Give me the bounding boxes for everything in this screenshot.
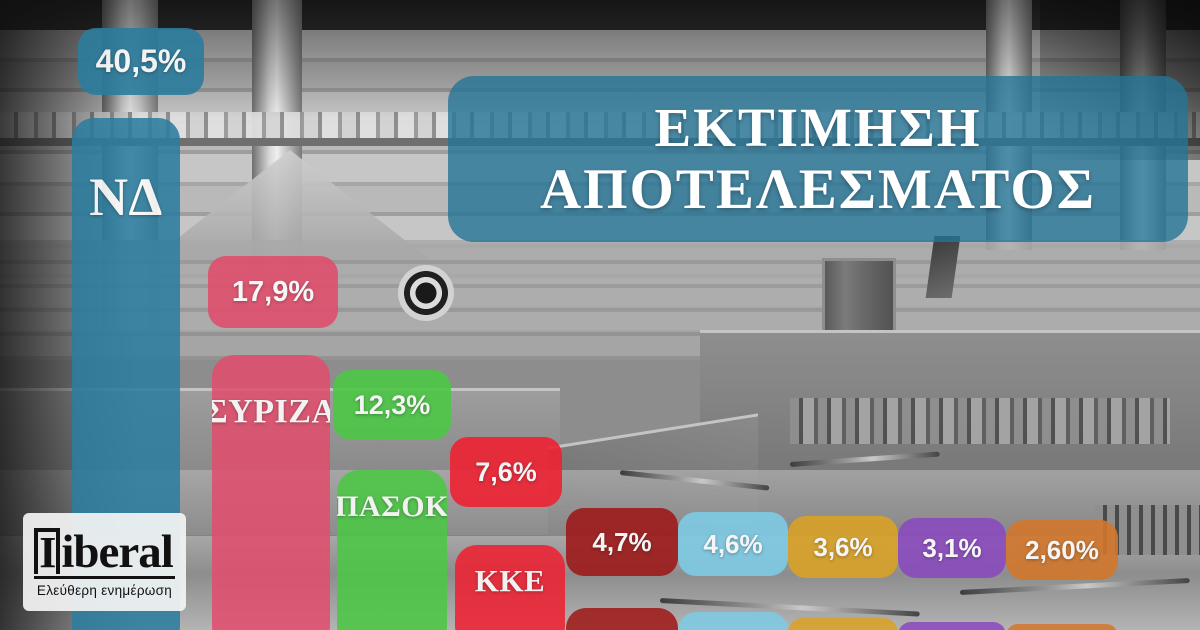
headline-panel: ΕΚΤΙΜΗΣΗ ΑΠΟΤΕΛΕΣΜΑΤΟΣ bbox=[448, 76, 1188, 242]
value-text: 17,9% bbox=[232, 276, 314, 309]
bar-label-ΠΑΣΟΚ: ΠΑΣΟΚ bbox=[337, 490, 447, 524]
value-badge-2,60%: 2,60% bbox=[1006, 520, 1118, 580]
value-badge-ΠΑΣΟΚ: 12,3% bbox=[333, 370, 451, 440]
value-badge-ΣΥΡΙΖΑ: 17,9% bbox=[208, 256, 338, 328]
value-badge-3,6%: 3,6% bbox=[788, 516, 898, 578]
headline-line-1: ΕΚΤΙΜΗΣΗ bbox=[655, 98, 982, 157]
bar-2,60% bbox=[1006, 624, 1118, 630]
value-badge-4,6%: 4,6% bbox=[678, 512, 788, 576]
bar-4,7% bbox=[566, 608, 678, 630]
bar-4,6% bbox=[678, 612, 788, 630]
value-text: 40,5% bbox=[96, 43, 187, 80]
value-text: 3,6% bbox=[813, 532, 872, 563]
liberal-logo[interactable]: Iiberal Ελεύθερη ενημέρωση bbox=[23, 513, 186, 611]
bar-3,6% bbox=[788, 618, 898, 630]
value-text: 3,1% bbox=[922, 533, 981, 564]
value-text: 4,7% bbox=[592, 527, 651, 558]
logo-initial: I bbox=[34, 528, 60, 574]
value-badge-4,7%: 4,7% bbox=[566, 508, 678, 576]
value-badge-ΝΔ: 40,5% bbox=[78, 28, 204, 95]
bar-label-ΝΔ: ΝΔ bbox=[89, 166, 163, 228]
logo-wordmark: Iiberal bbox=[34, 528, 175, 579]
logo-tagline: Ελεύθερη ενημέρωση bbox=[37, 583, 172, 598]
bar-ΠΑΣΟΚ: ΠΑΣΟΚ bbox=[337, 470, 447, 630]
value-text: 7,6% bbox=[475, 457, 537, 488]
logo-word-rest: iberal bbox=[61, 526, 172, 578]
bar-ΣΥΡΙΖΑ: ΣΥΡΙΖΑ bbox=[212, 355, 330, 630]
headline-line-2: ΑΠΟΤΕΛΕΣΜΑΤΟΣ bbox=[540, 159, 1096, 221]
value-badge-3,1%: 3,1% bbox=[898, 518, 1006, 578]
bar-label-ΚΚΕ: ΚΚΕ bbox=[475, 563, 545, 599]
value-badge-ΚΚΕ: 7,6% bbox=[450, 437, 562, 507]
poll-graphic: ΝΔ40,5%ΣΥΡΙΖΑ17,9%ΠΑΣΟΚ12,3%ΚΚΕ7,6%4,7%4… bbox=[0, 0, 1200, 630]
bar-label-ΣΥΡΙΖΑ: ΣΥΡΙΖΑ bbox=[212, 393, 330, 431]
bar-3,1% bbox=[898, 622, 1006, 630]
value-text: 12,3% bbox=[354, 390, 431, 421]
value-text: 2,60% bbox=[1025, 535, 1099, 566]
value-text: 4,6% bbox=[703, 529, 762, 560]
bar-ΚΚΕ: ΚΚΕ bbox=[455, 545, 565, 630]
